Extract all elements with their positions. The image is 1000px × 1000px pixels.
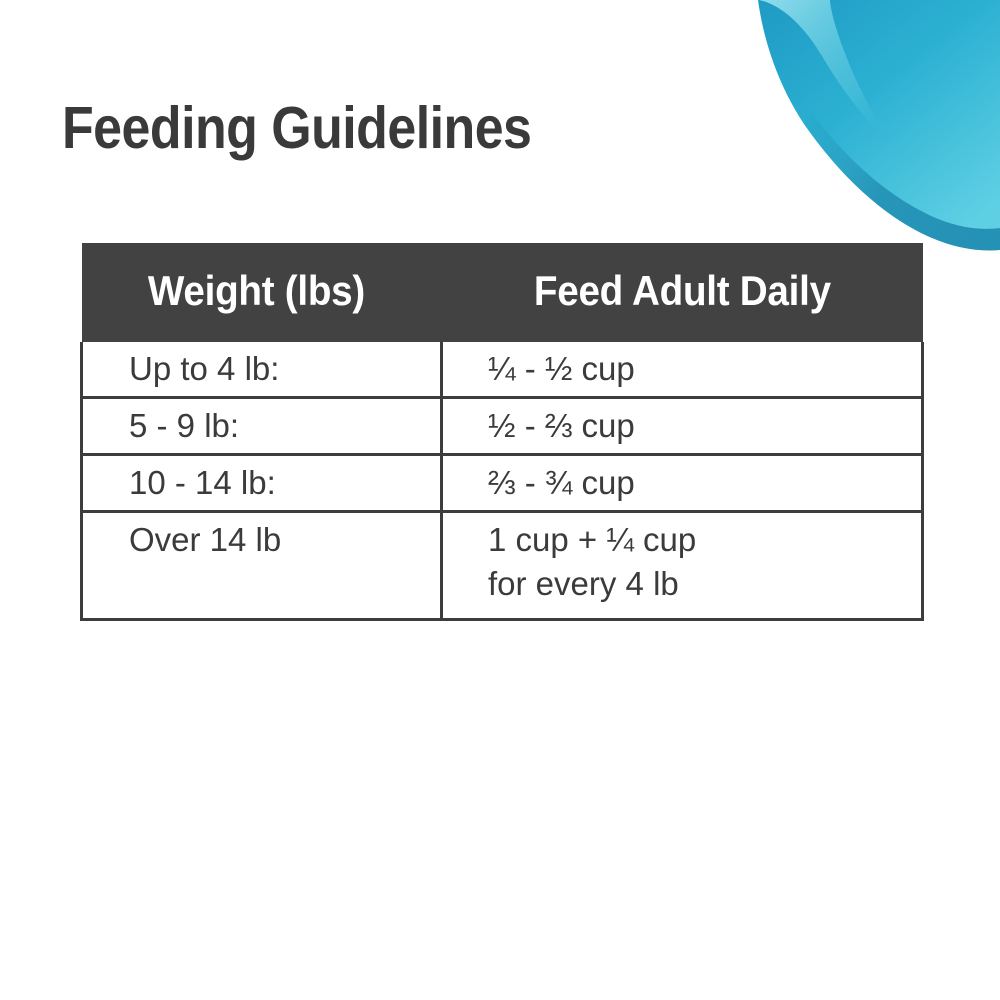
cell-feed-line: 1 cup + ¼ cup	[488, 518, 921, 562]
cell-feed: ½ - ⅔ cup	[442, 398, 923, 455]
cell-weight-text: 5 - 9 lb:	[129, 404, 440, 448]
table-row: 5 - 9 lb: ½ - ⅔ cup	[82, 398, 923, 455]
cell-weight-text: 10 - 14 lb:	[129, 461, 440, 505]
blue-swoosh-graphic	[680, 0, 1000, 260]
cell-weight: Over 14 lb	[82, 512, 442, 620]
cell-weight: 5 - 9 lb:	[82, 398, 442, 455]
table-row: 10 - 14 lb: ⅔ - ¾ cup	[82, 455, 923, 512]
cell-feed: ⅔ - ¾ cup	[442, 455, 923, 512]
cell-feed: 1 cup + ¼ cup for every 4 lb	[442, 512, 923, 620]
cell-weight: Up to 4 lb:	[82, 342, 442, 398]
cell-feed-line: for every 4 lb	[488, 562, 921, 606]
cell-feed-line: ¼ - ½ cup	[488, 347, 921, 391]
table-row: Over 14 lb 1 cup + ¼ cup for every 4 lb	[82, 512, 923, 620]
column-header-feed-adult-daily-label: Feed Adult Daily	[534, 269, 831, 313]
column-header-weight-label: Weight (lbs)	[147, 269, 375, 313]
column-header-feed-adult-daily: Feed Adult Daily	[442, 243, 923, 342]
cell-feed-line: ½ - ⅔ cup	[488, 404, 921, 448]
cell-weight-text: Up to 4 lb:	[129, 347, 440, 391]
cell-feed-line: ⅔ - ¾ cup	[488, 461, 921, 505]
page-title: Feeding Guidelines	[62, 97, 531, 159]
cell-weight: 10 - 14 lb:	[82, 455, 442, 512]
column-header-weight: Weight (lbs)	[82, 243, 442, 342]
cell-feed: ¼ - ½ cup	[442, 342, 923, 398]
table-row: Up to 4 lb: ¼ - ½ cup	[82, 342, 923, 398]
cell-weight-text: Over 14 lb	[129, 518, 440, 562]
feeding-guidelines-table: Weight (lbs) Feed Adult Daily Up to 4 lb…	[80, 243, 924, 621]
table-header-row: Weight (lbs) Feed Adult Daily	[82, 243, 923, 342]
